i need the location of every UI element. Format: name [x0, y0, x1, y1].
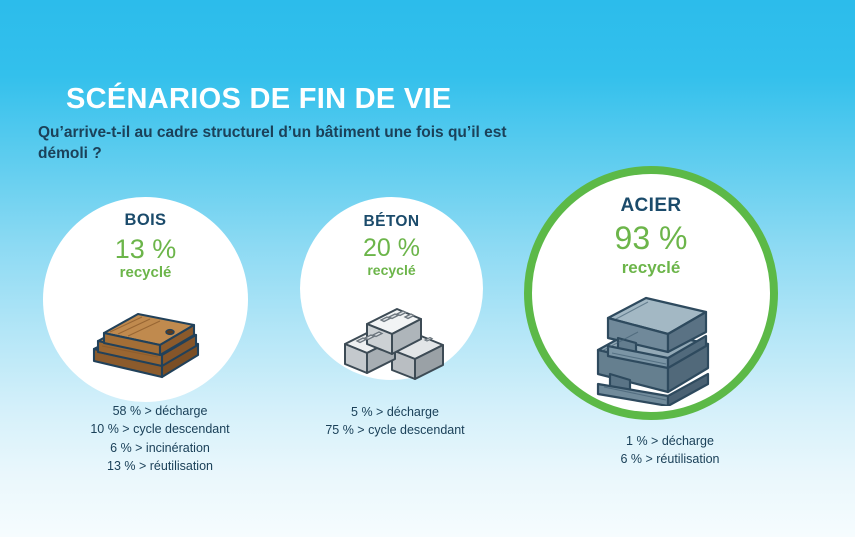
- fate-list-acier: 1 % > décharge 6 % > réutilisation: [570, 432, 770, 469]
- material-circle-text-bois: BOIS 13 % recyclé: [43, 212, 248, 280]
- fate-line: 13 % > réutilisation: [60, 457, 260, 475]
- fate-list-beton: 5 % > décharge 75 % > cycle descendant: [295, 403, 495, 440]
- material-name-beton: BÉTON: [300, 214, 483, 230]
- fate-line: 58 % > décharge: [60, 402, 260, 420]
- material-percent-acier: 93 %: [524, 222, 778, 256]
- header: SCÉNARIOS DE FIN DE VIE Qu’arrive-t-il a…: [66, 84, 586, 165]
- steel-beams-icon: [524, 288, 778, 406]
- material-percent-beton: 20 %: [300, 235, 483, 261]
- material-percent-bois: 13 %: [43, 235, 248, 263]
- material-recycled-label-acier: recyclé: [524, 259, 778, 276]
- fate-line: 6 % > incinération: [60, 439, 260, 457]
- fate-line: 6 % > réutilisation: [570, 450, 770, 468]
- fate-line: 10 % > cycle descendant: [60, 420, 260, 438]
- page-subtitle: Qu’arrive-t-il au cadre structurel d’un …: [38, 123, 508, 165]
- fate-list-bois: 58 % > décharge 10 % > cycle descendant …: [60, 402, 260, 476]
- concrete-blocks-icon: [300, 300, 483, 385]
- material-recycled-label-bois: recyclé: [43, 265, 248, 280]
- end-of-life-scenarios-infographic: SCÉNARIOS DE FIN DE VIE Qu’arrive-t-il a…: [0, 0, 855, 537]
- material-name-bois: BOIS: [43, 212, 248, 229]
- material-recycled-label-beton: recyclé: [300, 263, 483, 277]
- material-circle-text-beton: BÉTON 20 % recyclé: [300, 214, 483, 277]
- wood-stack-icon: [43, 303, 248, 385]
- fate-line: 1 % > décharge: [570, 432, 770, 450]
- material-name-acier: ACIER: [524, 196, 778, 215]
- fate-line: 75 % > cycle descendant: [295, 421, 495, 439]
- material-circle-text-acier: ACIER 93 % recyclé: [524, 196, 778, 276]
- page-title: SCÉNARIOS DE FIN DE VIE: [66, 84, 586, 114]
- fate-line: 5 % > décharge: [295, 403, 495, 421]
